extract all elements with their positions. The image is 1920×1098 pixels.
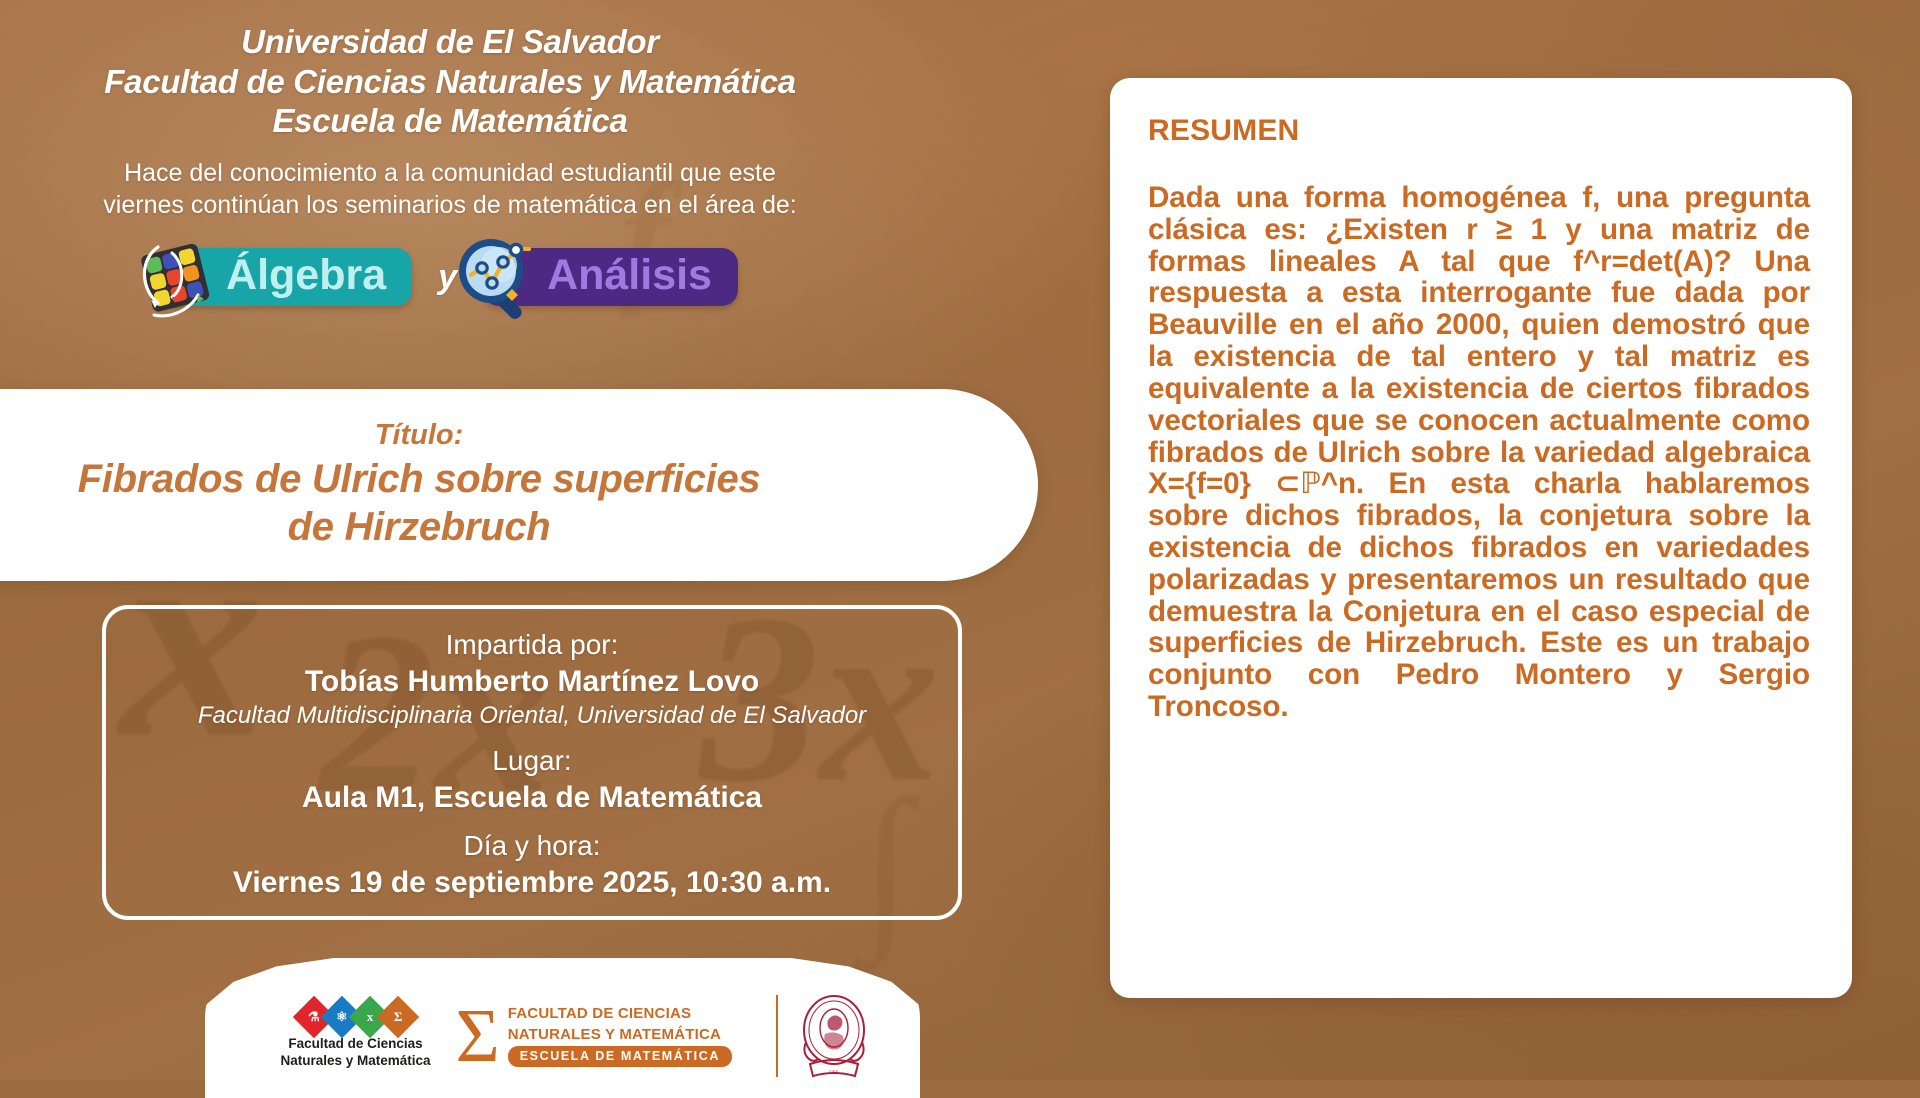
svg-text:UES: UES [829,1071,839,1076]
talk-title-line-2: de Hirzebruch [78,504,761,551]
place-label: Lugar: [136,743,928,779]
escuela-line-2: NATURALES Y MATEMÁTICA [508,1026,732,1045]
footer-logos: ⚗ ⚛ x Σ Facultad de Ciencias Naturales y… [205,958,920,1098]
escuela-line-1: FACULTAD DE CIENCIAS [508,1005,732,1024]
badge-analisis: Análisis [483,248,738,306]
speaker-name: Tobías Humberto Martínez Lovo [136,663,928,701]
escuela-chip: ESCUELA DE MATEMÁTICA [508,1046,732,1067]
title-label: Título: [375,419,464,452]
notice-text: Hace del conocimiento a la comunidad est… [0,157,900,222]
talk-title-panel: Título: Fibrados de Ulrich sobre superfi… [0,389,1038,581]
talk-title-line-1: Fibrados de Ulrich sobre superficies [78,456,761,503]
logo-escuela-matematica: Σ FACULTAD DE CIENCIAS NATURALES Y MATEM… [456,1005,756,1068]
talk-details-box: Impartida por: Tobías Humberto Martínez … [102,605,962,920]
ues-seal-icon: UES [798,990,870,1082]
speaker-label: Impartida por: [136,627,928,663]
speaker-affiliation: Facultad Multidisciplinaria Oriental, Un… [136,701,928,732]
institution-heading: Universidad de El Salvador Facultad de C… [0,22,900,141]
footer-divider [776,995,778,1077]
logo-fcnm: ⚗ ⚛ x Σ Facultad de Ciencias Naturales y… [256,1002,456,1070]
notice-line-1: Hace del conocimiento a la comunidad est… [0,157,900,190]
logo-escuela-text: FACULTAD DE CIENCIAS NATURALES Y MATEMÁT… [508,1005,732,1068]
logo-fcnm-text: Facultad de Ciencias Naturales y Matemát… [280,1036,430,1070]
details-spacer-1 [136,732,928,743]
badge-algebra: Álgebra [162,248,412,306]
datetime-label: Día y hora: [136,828,928,864]
logo-fcnm-line-2: Naturales y Matemática [280,1053,430,1070]
magnifier-graph-icon [449,231,541,323]
left-column: Universidad de El Salvador Facultad de C… [0,0,900,1080]
details-spacer-2 [136,817,928,828]
institution-line-2: Facultad de Ciencias Naturales y Matemát… [0,62,900,102]
notice-line-2: viernes continúan los seminarios de mate… [0,189,900,222]
place-value: Aula M1, Escuela de Matemática [136,779,928,817]
talk-title: Fibrados de Ulrich sobre superficies de … [78,456,761,550]
abstract-heading: RESUMEN [1148,114,1810,148]
abstract-body-part-1: Dada una forma homogénea f, una pregunta… [1148,181,1810,500]
institution-line-3: Escuela de Matemática [0,101,900,141]
header-block: Universidad de El Salvador Facultad de C… [0,22,900,222]
sigma-mark-icon: Σ [456,1006,500,1067]
abstract-body-part-2: ^n. En esta charla hablaremos sobre dich… [1148,467,1810,723]
datetime-value: Viernes 19 de septiembre 2025, 10:30 a.m… [136,864,928,902]
faculty-diamond-icons: ⚗ ⚛ x Σ [300,1002,412,1032]
institution-line-1: Universidad de El Salvador [0,22,900,62]
logo-fcnm-line-1: Facultad de Ciencias [280,1036,430,1053]
math-sigma-icon: Σ [376,996,418,1038]
abstract-panel: RESUMEN Dada una forma homogénea f, una … [1110,78,1852,998]
abstract-body: Dada una forma homogénea f, una pregunta… [1148,182,1810,723]
abstract-projective-space-symbol: ℙ [1300,467,1321,500]
rubiks-cube-icon [128,231,220,323]
subject-badges: Álgebra y Análisis [0,248,900,306]
